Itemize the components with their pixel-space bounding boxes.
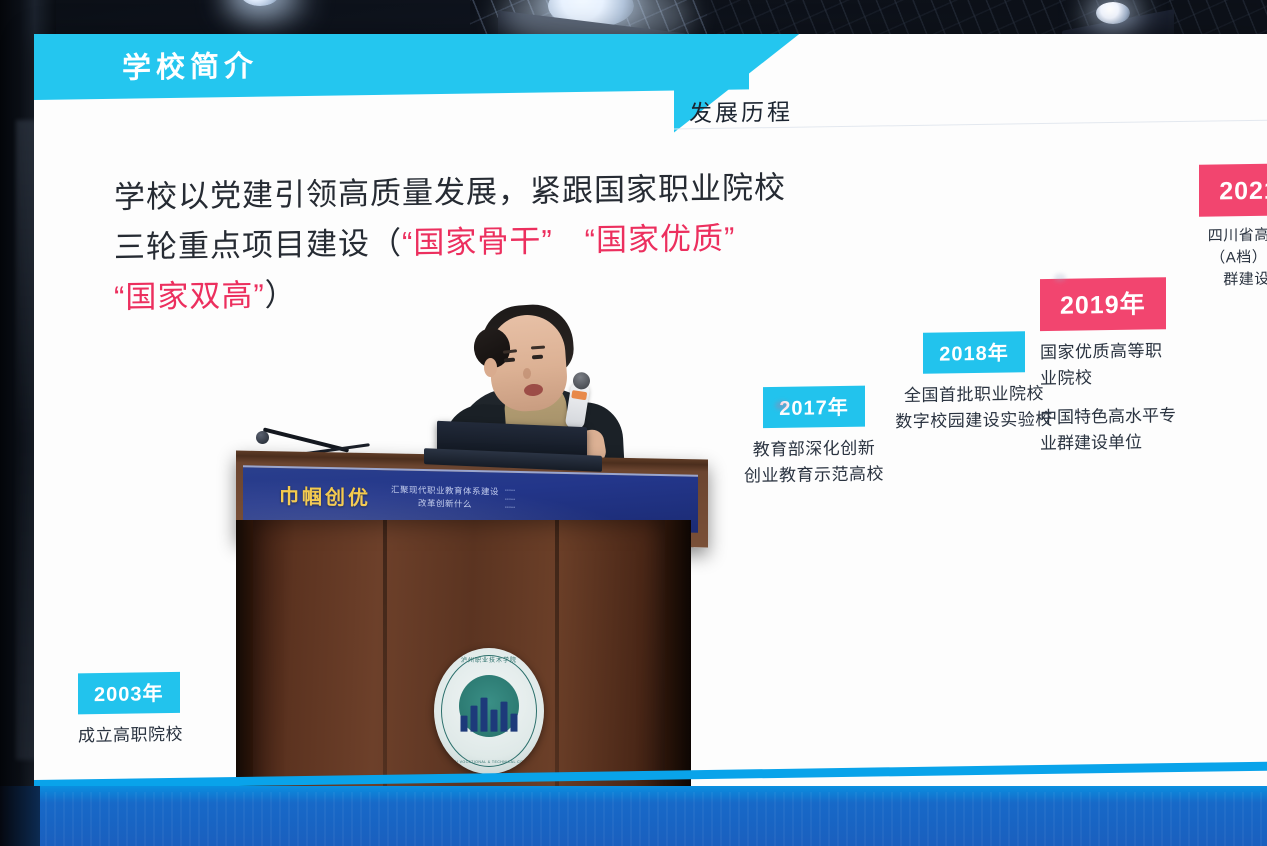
spotlight-right-bulb [1096, 2, 1130, 24]
emblem-top-text: 泸州职业技术学院 [434, 655, 544, 664]
emblem-bar [471, 705, 478, 731]
timeline-body-2021: 四川省高水平高 （A档）和高水 群建设单位 [1162, 223, 1267, 291]
timeline-chip-2021: 2021年 [1199, 163, 1267, 217]
emblem-bar [481, 697, 488, 731]
timeline-body-2017: 教育部深化创新 创业教育示范高校 [724, 435, 904, 489]
slide-band-title: 学校简介 [122, 43, 258, 87]
emblem-bottom-text: LUZHOU VOCATIONAL & TECHNICAL COLLEGE [434, 760, 544, 764]
speaker-nose [523, 368, 531, 379]
timeline-body-2019: 国家优质高等职 业院校 [1040, 338, 1176, 391]
emblem-bar [501, 701, 508, 731]
podium-banner-sidetext: ••••• ••••• ••••• [505, 487, 575, 514]
timeline-body-2003: 成立高职院校 [78, 722, 183, 749]
timeline-item-2003: 2003年 成立高职院校 [78, 672, 183, 749]
paragraph-line3-suffix: ） [265, 278, 297, 313]
emblem-bar [491, 709, 498, 731]
stage-floor-texture [0, 792, 1267, 846]
school-emblem: 泸州职业技术学院 LUZHOU VOCATIONAL & TECHNICAL C… [434, 648, 544, 774]
highlight-guojia-gugan: “国家骨干” [402, 224, 553, 261]
stage-floor-left-shadow [0, 786, 40, 846]
emblem-bar [461, 715, 468, 731]
timeline-chip-2018: 2018年 [923, 331, 1025, 374]
paragraph-gap [553, 223, 585, 258]
emblem-bar [511, 713, 518, 731]
paragraph-line2-prefix: 三轮重点项目建设（ [114, 226, 402, 265]
highlight-guojia-youzhi: “国家优质” [585, 221, 736, 258]
timeline-item-2021: 2021年 四川省高水平高 （A档）和高水 群建设单位 [1162, 162, 1267, 291]
timeline-item-2019: 2019年 国家优质高等职 业院校 中国特色高水平专 业群建设单位 [1040, 277, 1176, 456]
highlight-guojia-shuanggao: “国家双高” [114, 278, 265, 315]
slide-paragraph: 学校以党建引领高质量发展，紧跟国家职业院校 三轮重点项目建设（“国家骨干” “国… [114, 160, 994, 324]
conference-hall-photo: 学校简介 发展历程 学校以党建引领高质量发展，紧跟国家职业院校 三轮重点项目建设… [0, 0, 1267, 846]
timeline-chip-2003: 2003年 [78, 672, 180, 715]
gooseneck-mic-head [256, 431, 269, 444]
timeline-chip-2019: 2019年 [1040, 277, 1166, 331]
emblem-building-bars [461, 697, 518, 731]
timeline-body-2019-secondary: 中国特色高水平专 业群建设单位 [1040, 403, 1176, 456]
podium-banner-logo: 巾帼创优 [279, 480, 371, 511]
podium-banner-subtitle: 汇聚现代职业教育体系建设 改革创新什么 [391, 483, 499, 512]
speaker-ear [484, 358, 497, 377]
slide-section-title: 发展历程 [689, 93, 793, 129]
speaker-eye-right [532, 355, 543, 360]
